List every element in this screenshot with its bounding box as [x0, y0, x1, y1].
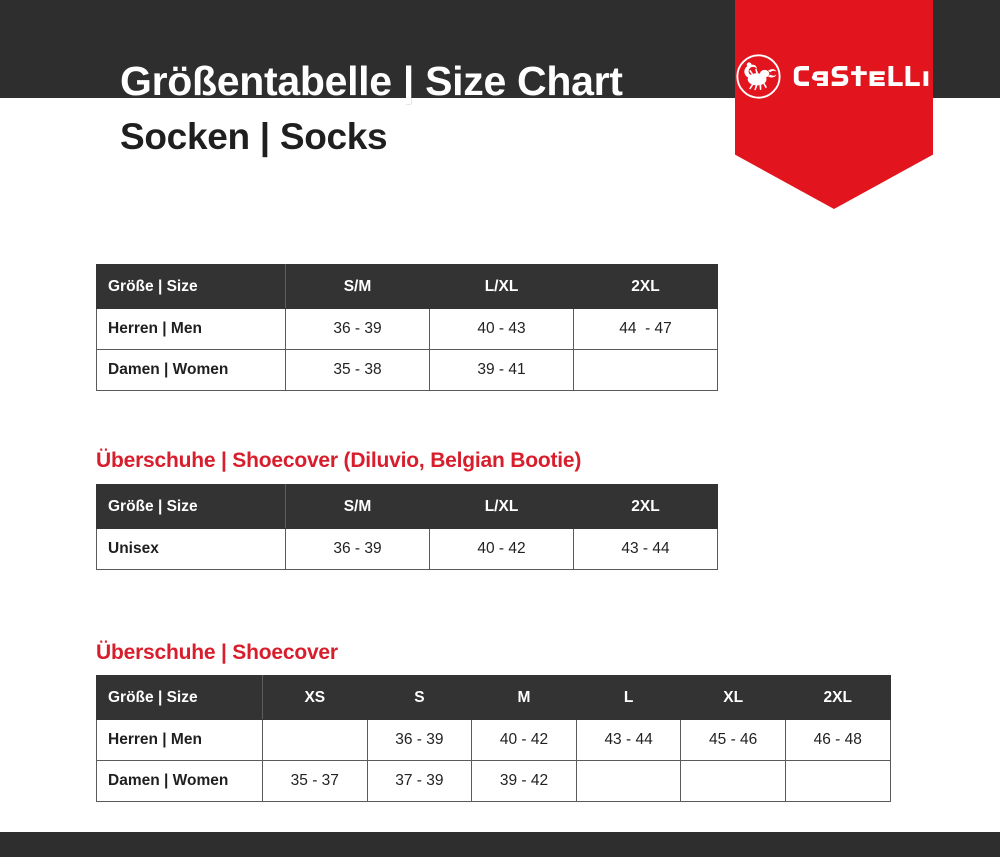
- column-header: Größe | Size: [97, 485, 286, 529]
- row-label: Damen | Women: [97, 761, 263, 802]
- page-subtitle: Socken | Socks: [120, 113, 387, 161]
- row-label: Herren | Men: [97, 309, 286, 350]
- table-row: Damen | Women 35 - 38 39 - 41: [97, 350, 718, 391]
- table-cell: 40 - 43: [430, 309, 574, 350]
- page-title-overflow: Größentabelle | Size Chart: [120, 55, 623, 107]
- table-cell: 43 - 44: [576, 720, 681, 761]
- castelli-scorpion-icon: [735, 53, 782, 100]
- column-header: 2XL: [574, 485, 718, 529]
- table-cell: 40 - 42: [472, 720, 577, 761]
- column-header: 2XL: [785, 676, 890, 720]
- table-cell: 39 - 41: [430, 350, 574, 391]
- column-header: Größe | Size: [97, 265, 286, 309]
- section-heading-shoecover: Überschuhe | Shoecover: [96, 641, 338, 665]
- column-header: L: [576, 676, 681, 720]
- column-header: M: [472, 676, 577, 720]
- column-header: S/M: [286, 485, 430, 529]
- brand-logo: [735, 46, 933, 106]
- table-row: Damen | Women 35 - 37 37 - 39 39 - 42: [97, 761, 891, 802]
- table-cell: [574, 350, 718, 391]
- table-cell: 37 - 39: [367, 761, 472, 802]
- table-cell: 36 - 39: [286, 309, 430, 350]
- table-cell: 43 - 44: [574, 529, 718, 570]
- table-cell: 35 - 38: [286, 350, 430, 391]
- table-cell: [785, 761, 890, 802]
- table-shoecover-diluvio: Größe | Size S/M L/XL 2XL Unisex 36 - 39…: [96, 484, 718, 570]
- table-cell: [263, 720, 368, 761]
- table-row: Herren | Men 36 - 39 40 - 42 43 - 44 45 …: [97, 720, 891, 761]
- table-socks: Größe | Size S/M L/XL 2XL Herren | Men 3…: [96, 264, 718, 391]
- column-header: L/XL: [430, 265, 574, 309]
- column-header: L/XL: [430, 485, 574, 529]
- table-cell: 46 - 48: [785, 720, 890, 761]
- table-header-row: Größe | Size XS S M L XL 2XL: [97, 676, 891, 720]
- table-row: Herren | Men 36 - 39 40 - 43 44 - 47: [97, 309, 718, 350]
- table-cell: 36 - 39: [367, 720, 472, 761]
- row-label: Unisex: [97, 529, 286, 570]
- table-cell: [576, 761, 681, 802]
- table-cell: 39 - 42: [472, 761, 577, 802]
- table-cell: 40 - 42: [430, 529, 574, 570]
- column-header: S: [367, 676, 472, 720]
- table-cell: [681, 761, 786, 802]
- row-label: Damen | Women: [97, 350, 286, 391]
- table-cell: 44 - 47: [574, 309, 718, 350]
- castelli-wordmark: [791, 64, 933, 88]
- column-header: XS: [263, 676, 368, 720]
- table-header-row: Größe | Size S/M L/XL 2XL: [97, 265, 718, 309]
- table-shoecover: Größe | Size XS S M L XL 2XL Herren | Me…: [96, 675, 891, 802]
- section-heading-shoecover-diluvio: Überschuhe | Shoecover (Diluvio, Belgian…: [96, 449, 581, 473]
- table-cell: 45 - 46: [681, 720, 786, 761]
- column-header: Größe | Size: [97, 676, 263, 720]
- table-row: Unisex 36 - 39 40 - 42 43 - 44: [97, 529, 718, 570]
- table-header-row: Größe | Size S/M L/XL 2XL: [97, 485, 718, 529]
- table-cell: 35 - 37: [263, 761, 368, 802]
- table-cell: 36 - 39: [286, 529, 430, 570]
- brand-banner: [735, 0, 933, 209]
- column-header: 2XL: [574, 265, 718, 309]
- footer-band: [0, 832, 1000, 857]
- row-label: Herren | Men: [97, 720, 263, 761]
- column-header: XL: [681, 676, 786, 720]
- column-header: S/M: [286, 265, 430, 309]
